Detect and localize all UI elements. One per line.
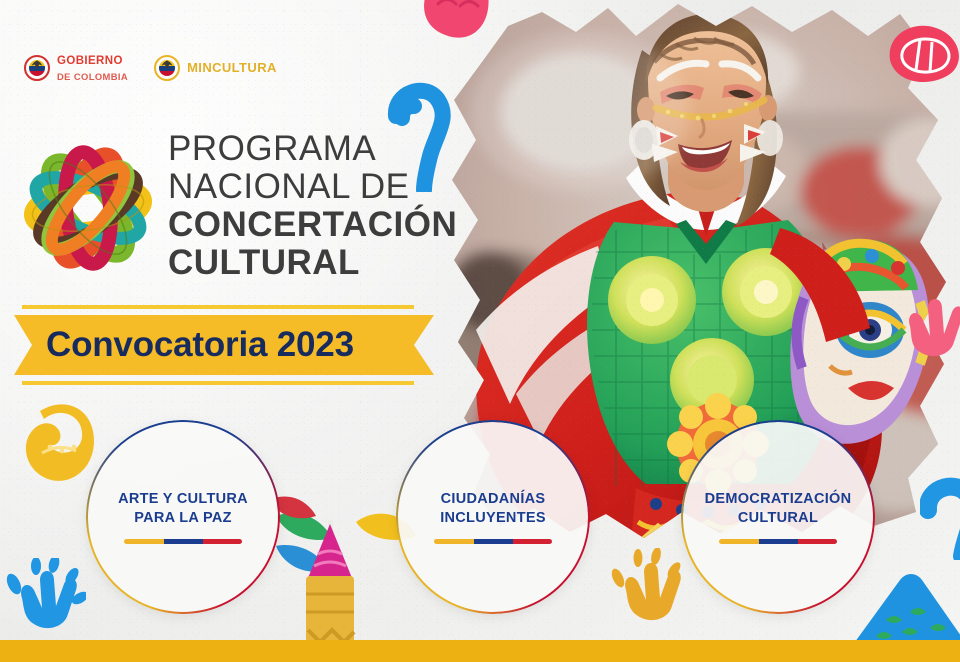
convocatoria-ribbon: Convocatoria 2023	[14, 303, 444, 387]
colombia-tricolor-bar	[434, 539, 552, 544]
title-line-1: PROGRAMA	[168, 130, 457, 168]
ribbon-line-bottom	[22, 381, 414, 385]
bottom-accent-bar	[0, 640, 960, 662]
blue-swirl-right-decoration	[920, 470, 960, 560]
title-line-2: NACIONAL DE	[168, 168, 457, 206]
colombia-tricolor-bar	[719, 539, 837, 544]
gobierno-de-colombia-logo[interactable]: GOBIERNO DE COLOMBIA	[24, 52, 128, 85]
colombia-tricolor-bar	[124, 539, 242, 544]
title-line-3: CONCERTACIÓN	[168, 206, 457, 244]
gov-logo-line2: DE COLOMBIA	[57, 71, 128, 82]
category-label: CIUDADANÍAS INCLUYENTES	[440, 490, 546, 527]
title-line-4: CULTURAL	[168, 244, 457, 282]
colombia-seal-icon	[24, 55, 50, 81]
ribbon-line-top	[22, 305, 414, 309]
yellow-handprint-bottom-center-decoration	[608, 548, 688, 628]
pink-handprint-right-decoration	[896, 282, 960, 362]
poster-canvas: GOBIERNO DE COLOMBIA MINCULTURA	[0, 0, 960, 662]
category-circle-ciudadanias-incluyentes[interactable]: CIUDADANÍAS INCLUYENTES	[398, 422, 588, 612]
ribbon-label: Convocatoria 2023	[46, 325, 354, 365]
gov-logo-line1: GOBIERNO	[57, 55, 123, 67]
blue-handprint-bottom-left-decoration	[6, 558, 86, 638]
category-circle-arte-y-cultura-para-la-paz[interactable]: ARTE Y CULTURA PARA LA PAZ	[88, 422, 278, 612]
page-title: PROGRAMA NACIONAL DE CONCERTACIÓN CULTUR…	[168, 130, 457, 283]
category-circle-democratizacion-cultural[interactable]: DEMOCRATIZACIÓN CULTURAL	[683, 422, 873, 612]
ribbon-banner: Convocatoria 2023	[14, 315, 434, 375]
government-logos: GOBIERNO DE COLOMBIA MINCULTURA	[24, 52, 277, 85]
mincultura-logo[interactable]: MINCULTURA	[154, 55, 277, 81]
category-label: DEMOCRATIZACIÓN CULTURAL	[705, 490, 852, 527]
mincultura-label: MINCULTURA	[187, 60, 277, 75]
pink-paisley-top-right-decoration	[880, 18, 960, 98]
category-label: ARTE Y CULTURA PARA LA PAZ	[118, 490, 248, 527]
colombia-seal-icon	[154, 55, 180, 81]
pink-crayon-top-decoration	[408, 0, 518, 50]
woven-ball-logo	[22, 128, 154, 278]
